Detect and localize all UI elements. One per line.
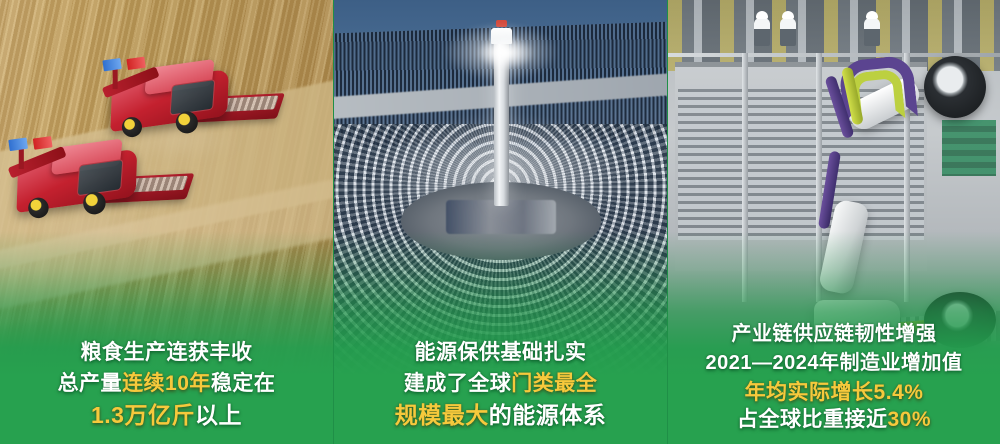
caption-segment-white: 总产量 [58, 372, 123, 395]
caption-segment-gold: 规模最大 [395, 402, 489, 428]
harvester-cab [77, 159, 124, 196]
harvester-cab [170, 79, 216, 116]
caption-segment-white: 以上 [195, 402, 242, 428]
caption-segment-white: 能源保供基础扎实 [415, 341, 587, 364]
caption-line-1: 产业链供应链韧性增强 [674, 321, 994, 347]
caption-grain: 粮食生产连获丰收 总产量连续10年稳定在 1.3万亿斤以上 [0, 339, 333, 430]
caption-segment-white: 稳定在 [211, 372, 276, 395]
caption-line-3: 年均实际增长5.4% [674, 379, 994, 407]
hard-hat-icon [756, 11, 768, 19]
infographic-banner: 粮食生产连获丰收 总产量连续10年稳定在 1.3万亿斤以上 能源保供基础扎实 建… [0, 0, 1000, 444]
tire [924, 56, 986, 118]
caption-line-3: 规模最大的能源体系 [340, 400, 661, 430]
panel-industry: 产业链供应链韧性增强 2021—2024年制造业增加值 年均实际增长5.4% 占… [668, 0, 1000, 444]
caption-line-2: 建成了全球门类最全 [340, 370, 661, 398]
hard-hat-icon [866, 11, 878, 19]
caption-segment-gold: 年均实际增长5.4% [745, 381, 924, 404]
caption-segment-white: 建成了全球 [404, 372, 512, 395]
caption-segment-gold: 30% [887, 408, 931, 431]
caption-segment-white: 占全球比重接近 [737, 408, 888, 431]
caption-segment-gold: 门类最全 [511, 372, 597, 395]
caption-segment-white: 产业链供应链韧性增强 [732, 323, 937, 345]
caption-line-2: 2021—2024年制造业增加值 [674, 350, 994, 376]
sun-glare-secondary [477, 36, 535, 70]
rail-post [742, 53, 748, 302]
rail-post [816, 53, 822, 302]
factory-worker [754, 18, 770, 46]
caption-line-4: 占全球比重接近30% [674, 406, 994, 434]
factory-worker [780, 18, 796, 46]
caption-line-1: 能源保供基础扎实 [340, 339, 661, 367]
caption-energy: 能源保供基础扎实 建成了全球门类最全 规模最大的能源体系 [334, 339, 667, 430]
panel-energy: 能源保供基础扎实 建成了全球门类最全 规模最大的能源体系 [334, 0, 667, 444]
caption-segment-white: 粮食生产连获丰收 [81, 341, 253, 364]
factory-worker [864, 18, 880, 46]
caption-segment-white: 2021—2024年制造业增加值 [706, 352, 963, 374]
caption-segment-gold: 连续10年 [122, 372, 211, 395]
caption-segment-gold: 1.3万亿斤 [91, 402, 195, 428]
caption-line-2: 总产量连续10年稳定在 [6, 370, 327, 398]
caption-industry: 产业链供应链韧性增强 2021—2024年制造业增加值 年均实际增长5.4% 占… [668, 321, 1000, 434]
caption-line-3: 1.3万亿斤以上 [6, 400, 327, 430]
dust-cloud [30, 210, 150, 250]
caption-segment-white: 的能源体系 [489, 402, 607, 428]
caption-line-1: 粮食生产连获丰收 [6, 339, 327, 367]
hard-hat-icon [782, 11, 794, 19]
panel-grain: 粮食生产连获丰收 总产量连续10年稳定在 1.3万亿斤以上 [0, 0, 333, 444]
parts-tote [942, 120, 996, 176]
